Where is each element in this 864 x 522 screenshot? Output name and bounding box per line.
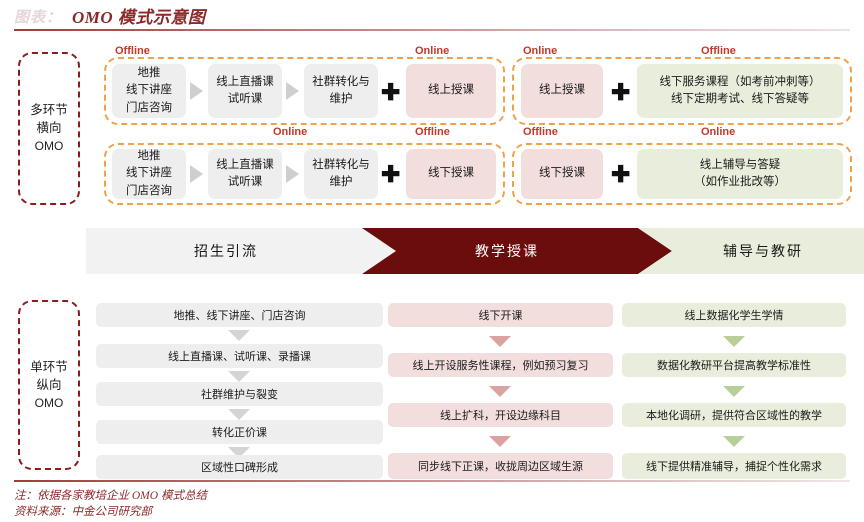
row1-group-a-label-left: Offline [112,45,153,57]
row2-node-3: 社群转化与 维护 [304,149,378,199]
row1-arrow-2 [286,82,299,100]
bottom-col3-arrow-3 [723,436,745,447]
category-line-1: 多环节 [30,103,68,117]
row2-node-2: 线上直播课 试听课 [208,149,282,199]
bottom-col2-item-4: 同步线下正课，收拢周边区域生源 [388,453,613,479]
category-line-2: 横向 [36,121,61,135]
row1-group-a-label-right: Online [412,45,452,57]
bottom-col2-item-1: 线下开课 [388,303,613,327]
page-title: OMO 模式示意图 [72,3,205,28]
bottom-col1-item-5: 区域性口碑形成 [96,455,383,479]
category-line-3: OMO [35,139,64,153]
header: 图表： OMO 模式示意图 [0,0,864,34]
row1-node-5: 线上授课 [521,64,603,118]
bottom-col3-arrow-2 [723,386,745,397]
category-v-line-1: 单环节 [30,360,68,374]
bottom-col2-arrow-2 [489,386,511,397]
banner-segment-1: 招生引流 [86,228,396,274]
category-box-vertical-omo: 单环节 纵向 OMO [18,300,80,470]
bottom-col1-item-2: 线上直播课、试听课、录播课 [96,344,383,368]
row2-group-a-label-mid: Online [270,126,310,138]
footer-divider [14,480,850,482]
banner-segment-1-label: 招生引流 [194,241,258,261]
bottom-col3-arrow-1 [723,336,745,347]
row2-plus-b: ✚ [611,163,630,186]
row1-node-1: 地推 线下讲座 门店咨询 [112,64,186,118]
category-box-horizontal-omo: 多环节 横向 OMO [18,52,80,205]
row1-node-6: 线下服务课程（如考前冲刺等） 线下定期考试、线下答疑等 [637,64,843,118]
row1-node-4: 线上授课 [406,64,496,118]
row2-plus-a: ✚ [381,163,400,186]
header-divider [14,29,850,31]
bottom-col1-arrow-1 [228,330,250,341]
row1-node-2: 线上直播课 试听课 [208,64,282,118]
bottom-col2-arrow-3 [489,436,511,447]
footer-note: 注：依据各家教培企业 OMO 模式总结 [14,487,207,503]
bottom-col3-item-2: 数据化教研平台提高教学标准性 [622,353,846,377]
row2-arrow-2 [286,165,299,183]
row2-group-a-label-right: Offline [412,126,453,138]
bottom-col2-item-3: 线上扩科，开设边缘科目 [388,403,613,427]
row1-arrow-1 [190,82,203,100]
row2-node-5: 线下授课 [521,149,603,199]
bottom-col3-item-1: 线上数据化学生学情 [622,303,846,327]
row1-node-3: 社群转化与 维护 [304,64,378,118]
row1-plus-a: ✚ [381,81,400,104]
row2-arrow-1 [190,165,203,183]
row2-node-6: 线上辅导与答疑 （如作业批改等） [637,149,843,199]
header-prefix: 图表： [14,6,62,27]
row1-plus-b: ✚ [611,81,630,104]
banner-segment-2-label: 教学授课 [475,241,539,261]
row1-group-b-label-right: Offline [698,45,739,57]
row1-group-b-label-left: Online [520,45,560,57]
bottom-col2-item-2: 线上开设服务性课程，例如预习复习 [388,353,613,377]
row2-group-b-label-right: Online [698,126,738,138]
bottom-col1-item-4: 转化正价课 [96,420,383,444]
bottom-col1-arrow-3 [228,409,250,420]
banner-segment-2: 教学授课 [362,228,672,274]
bottom-col3-item-4: 线下提供精准辅导，捕捉个性化需求 [622,453,846,479]
bottom-col3-item-3: 本地化调研，提供符合区域性的教学 [622,403,846,427]
footer-source: 资料来源：中金公司研究部 [14,503,152,519]
bottom-col1-arrow-2 [228,371,250,382]
row2-node-1: 地推 线下讲座 门店咨询 [112,149,186,199]
diagram-canvas: 图表： OMO 模式示意图 多环节 横向 OMO Offline Online … [0,0,864,522]
row2-group-b-label-left: Offline [520,126,561,138]
row2-node-4: 线下授课 [406,149,496,199]
category-v-line-2: 纵向 [36,378,61,392]
bottom-col1-item-3: 社群维护与裂变 [96,382,383,406]
process-banner: 招生引流 教学授课 辅导与教研 [86,228,864,274]
bottom-col1-item-1: 地推、线下讲座、门店咨询 [96,303,383,327]
bottom-col2-arrow-1 [489,336,511,347]
banner-segment-3-label: 辅导与教研 [723,241,803,261]
category-v-line-3: OMO [35,396,64,410]
